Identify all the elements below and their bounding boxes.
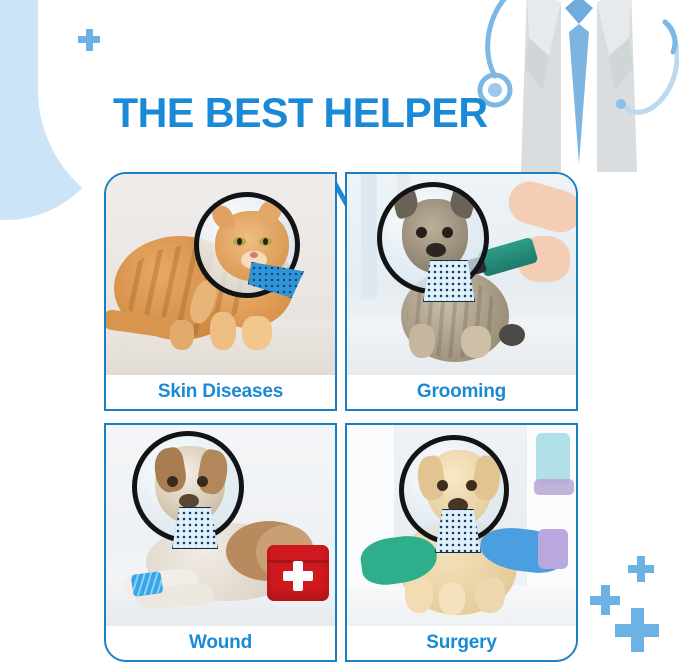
doctor-coat-illustration [469,0,679,172]
feature-card-grid: Skin Diseases [104,172,578,662]
card-surgery[interactable]: Surgery [345,423,578,662]
card-skin-diseases-photo [106,174,335,375]
card-surgery-label: Surgery [347,626,576,660]
poster-canvas: THE BEST HELPER OF VETERINARIAN [0,0,679,670]
collar-bib [423,260,475,302]
cross-small-icon [628,556,654,582]
cross-large-icon [615,608,659,652]
card-skin-diseases[interactable]: Skin Diseases [104,172,337,411]
card-skin-diseases-label: Skin Diseases [106,375,335,409]
collar-bib [172,507,218,549]
card-grooming-photo [347,174,576,375]
card-grooming[interactable]: Grooming [345,172,578,411]
card-wound-label: Wound [106,626,335,660]
card-surgery-photo [347,425,576,626]
card-wound-photo [106,425,335,626]
card-grooming-label: Grooming [347,375,576,409]
collar-bib [435,509,481,553]
first-aid-kit-icon [267,545,329,601]
paw-bandage [131,571,164,597]
title-line-1: THE BEST HELPER [113,93,488,134]
card-wound[interactable]: Wound [104,423,337,662]
plus-icon [78,36,100,43]
